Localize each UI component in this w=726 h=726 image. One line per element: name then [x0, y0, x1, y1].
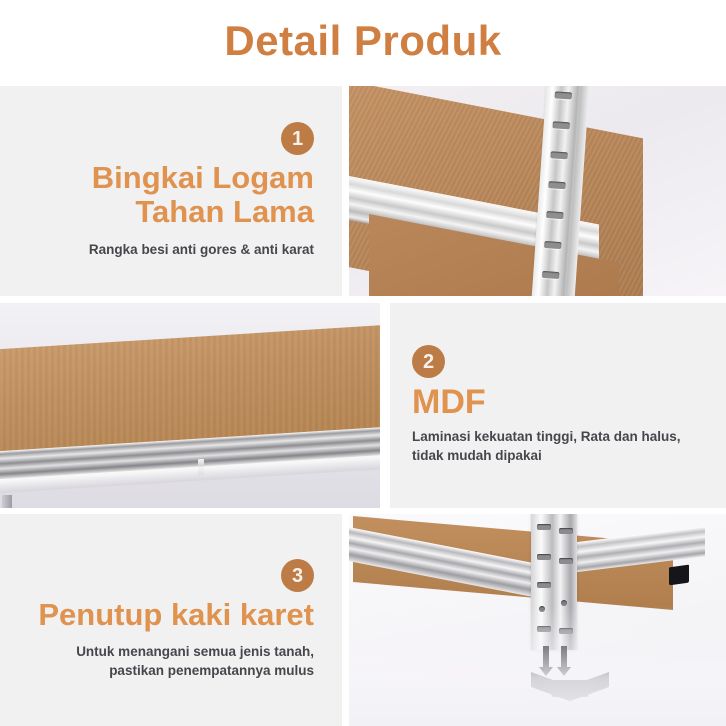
panel-1-description: Rangka besi anti gores & anti karat: [89, 240, 314, 260]
panel-2-photo-card: [0, 303, 380, 508]
header-banner: Detail Produk: [0, 0, 726, 82]
shelf-leg: [2, 495, 12, 508]
panel-1-title: Bingkai Logam Tahan Lama: [92, 161, 314, 228]
panel-3-text-card: 3 Penutup kaki karet Untuk menangani sem…: [0, 514, 342, 726]
rubber-foot-cap-photo: [349, 514, 726, 726]
metal-frame-shelf-photo: [349, 86, 726, 296]
panel-3-photo-card: [349, 514, 726, 726]
background-surface: [349, 606, 726, 726]
panel-1-photo-card: [349, 86, 726, 296]
panel-2-step-badge: 2: [412, 345, 445, 378]
panel-1-text-block: 1 Bingkai Logam Tahan Lama Rangka besi a…: [0, 86, 342, 296]
panel-3-title: Penutup kaki karet: [38, 598, 314, 631]
panel-1-step-badge: 1: [281, 122, 314, 155]
panel-3-description: Untuk menangani semua jenis tanah, pasti…: [76, 642, 314, 681]
panel-3-step-badge: 3: [281, 559, 314, 592]
page-title: Detail Produk: [224, 17, 501, 65]
product-detail-infographic: Detail Produk 1 Bingkai Logam Tahan Lama…: [0, 0, 726, 726]
panel-2-text-block: 2 MDF Laminasi kekuatan tinggi, Rata dan…: [390, 303, 726, 508]
panel-1-text-card: 1 Bingkai Logam Tahan Lama Rangka besi a…: [0, 86, 342, 296]
panel-2-text-card: 2 MDF Laminasi kekuatan tinggi, Rata dan…: [390, 303, 726, 508]
panel-2-title: MDF: [412, 384, 486, 421]
rubber-foot-installed: [669, 565, 689, 586]
panel-2-description: Laminasi kekuatan tinggi, Rata dan halus…: [412, 427, 681, 466]
panel-3-text-block: 3 Penutup kaki karet Untuk menangani sem…: [0, 514, 342, 726]
mdf-board-closeup-photo: [0, 303, 380, 508]
